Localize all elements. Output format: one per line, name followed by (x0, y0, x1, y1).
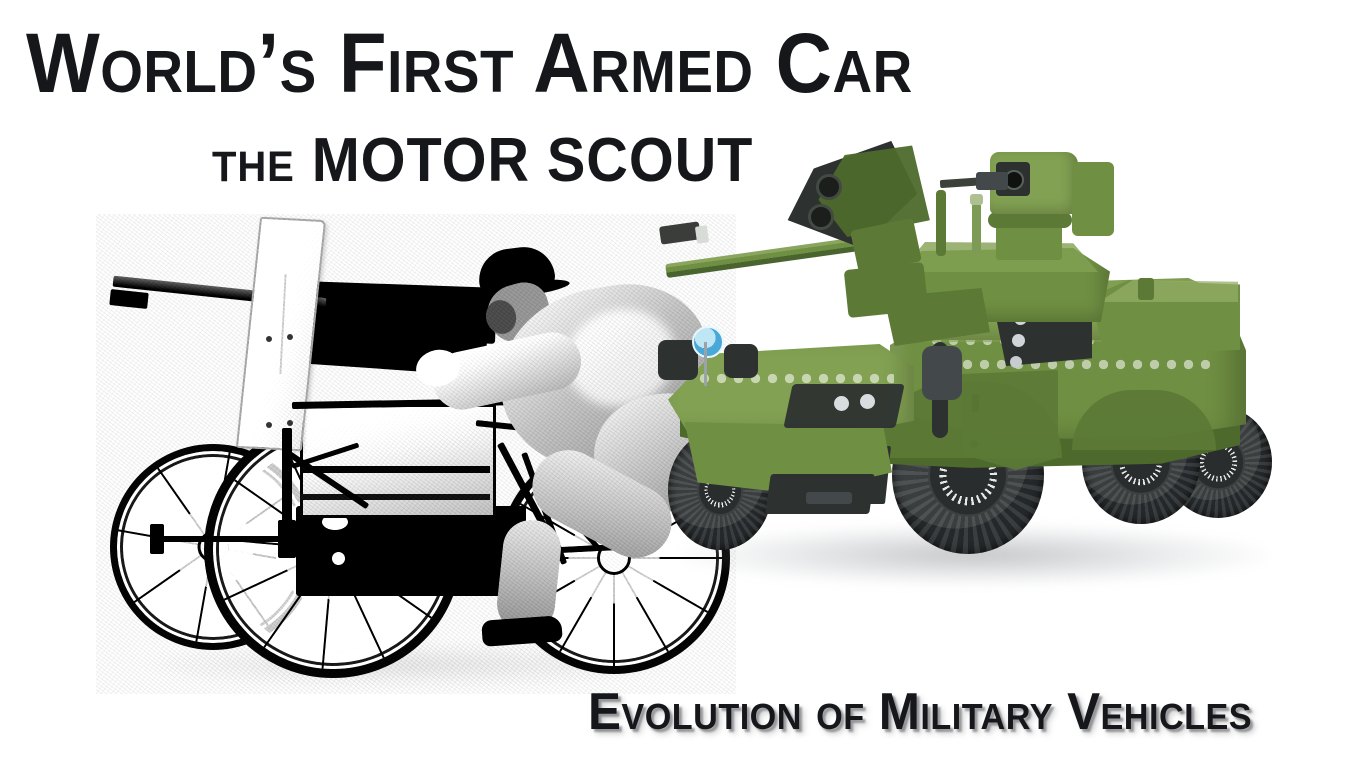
page-footer-caption: Evolution of Military Vehicles (588, 686, 1252, 738)
poster-canvas: World’s First Armed Car the MOTOR SCOUT … (0, 0, 1366, 768)
scout-engine-box (300, 404, 496, 518)
scout-shield-rivet-3 (266, 422, 272, 428)
vehicle-rws-mg-body (976, 172, 1008, 190)
vehicle-tow-hook (806, 492, 852, 504)
scout-shield-rivet-1 (266, 336, 272, 342)
vehicle-antenna-mast (936, 190, 946, 256)
vehicle-sensor-post (972, 202, 981, 254)
scout-engine-box-strap-2 (300, 494, 490, 500)
scout-chassis-highlight-2 (332, 552, 345, 565)
scout-engine-box-strap (300, 466, 490, 473)
modern-armoured-vehicle-photo (640, 130, 1300, 590)
vehicle-cannon-collar (695, 225, 709, 244)
vehicle-front-mirror-housing-2 (724, 344, 758, 378)
vehicle-gun-mantlet (844, 262, 929, 318)
vehicle-mirror-stalk (704, 342, 707, 386)
scout-axle-rear (156, 536, 336, 542)
vehicle-launcher-lens-1 (816, 174, 842, 200)
vehicle-headlight-2 (860, 394, 875, 409)
vehicle-roof-fitting (1138, 278, 1154, 300)
scout-rider-shoe (481, 615, 563, 647)
vehicle-optic-lens-3 (1010, 356, 1022, 368)
scout-axle-clamp (150, 524, 164, 554)
scout-gun-muzzle (109, 289, 148, 309)
scout-shield-rivet-4 (287, 420, 293, 426)
vehicle-optic-lens-2 (1012, 334, 1025, 347)
page-title: World’s First Armed Car (26, 22, 913, 104)
blue-mirror-sensor (692, 326, 724, 358)
vehicle-mirror-housing (922, 346, 962, 400)
page-subtitle: the MOTOR SCOUT (212, 130, 753, 192)
vehicle-sensor-post-tip (970, 194, 983, 205)
vehicle-rws-ammo-box (1072, 162, 1114, 236)
scout-shield-rivet-2 (287, 334, 293, 340)
vehicle-rws-ring (988, 212, 1072, 228)
scout-axle-clamp-2 (278, 520, 296, 558)
vehicle-headlight-1 (834, 396, 849, 411)
vehicle-launcher-lens-2 (808, 204, 834, 230)
